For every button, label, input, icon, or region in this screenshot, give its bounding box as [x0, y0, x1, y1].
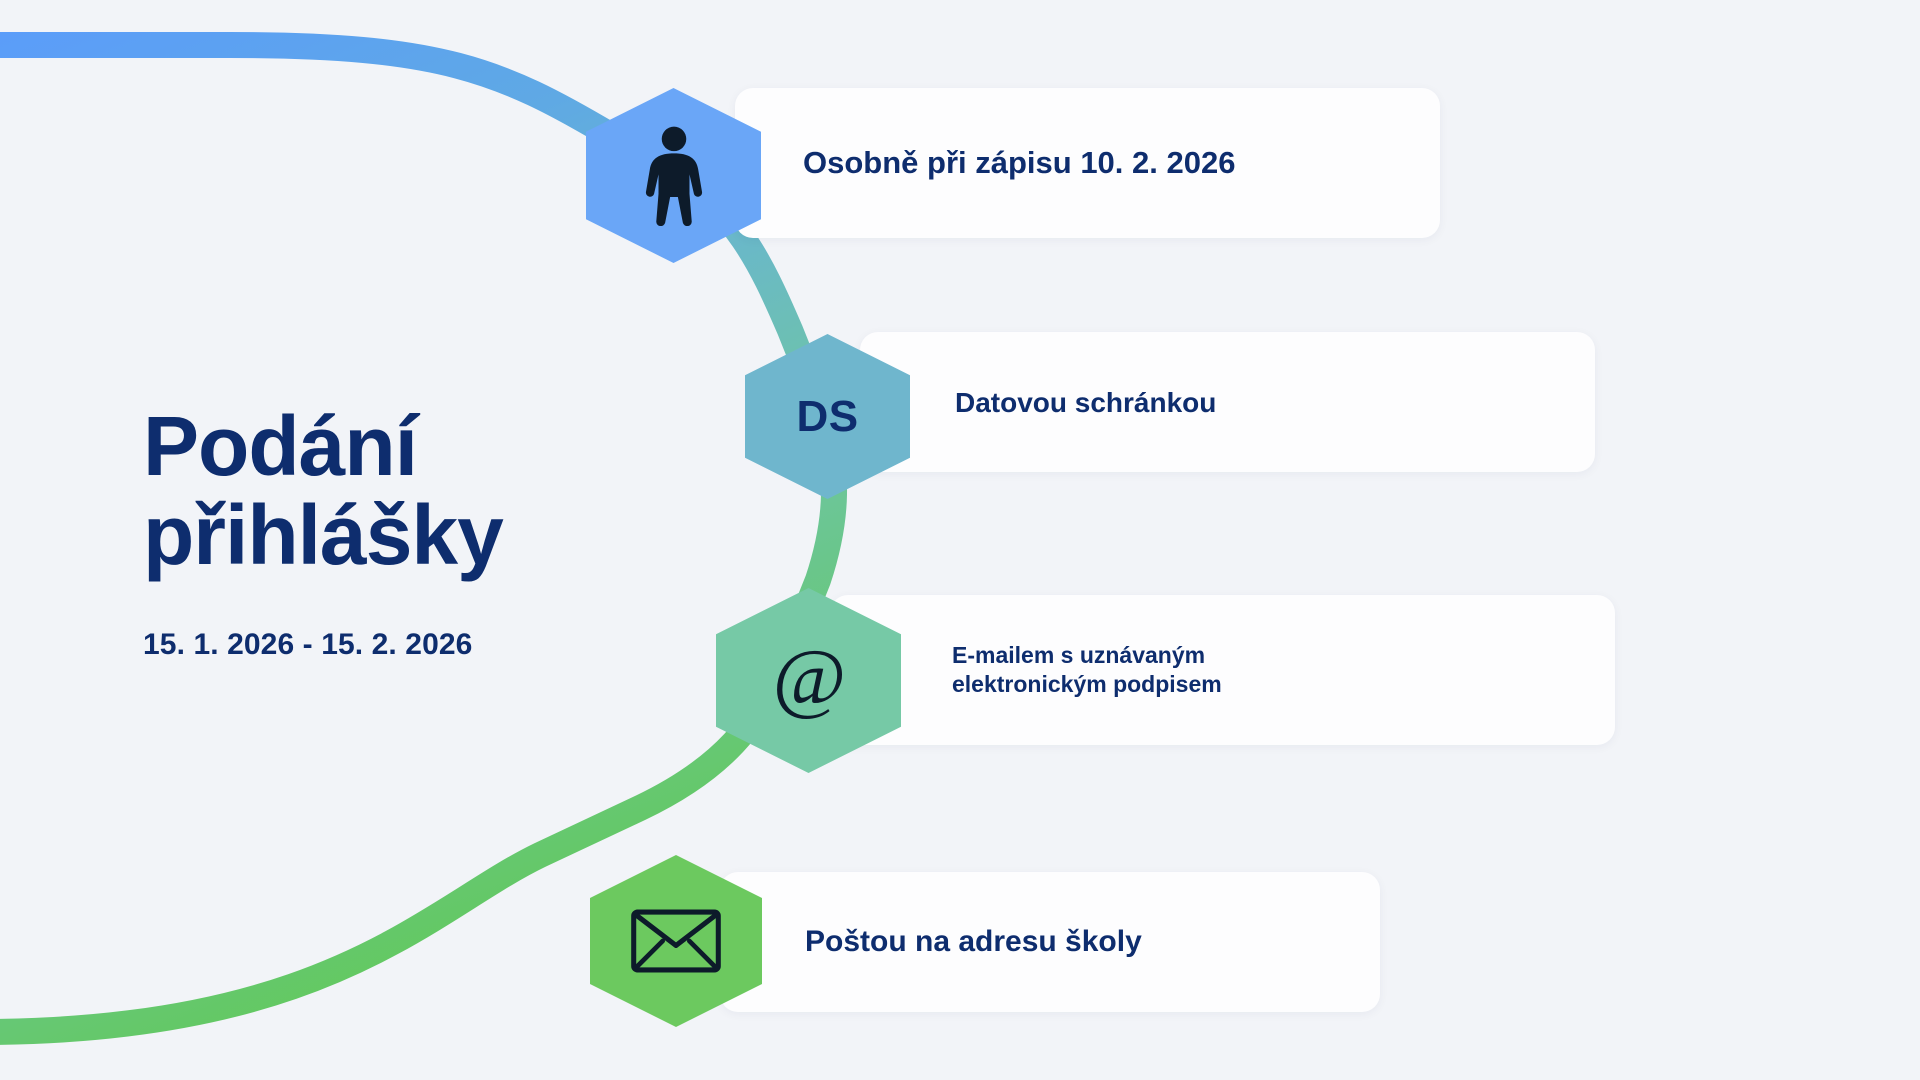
- ds-text-icon: DS: [796, 392, 858, 442]
- page-title: Podání přihlášky: [143, 402, 663, 580]
- infographic-canvas: Podání přihlášky 15. 1. 2026 - 15. 2. 20…: [0, 0, 1920, 1080]
- at-sign-icon: @: [763, 635, 855, 727]
- step-label-in-person: Osobně při zápisu 10. 2. 2026: [803, 144, 1235, 183]
- date-range-label: 15. 1. 2026 - 15. 2. 2026: [143, 628, 663, 662]
- step-card-email[interactable]: E-mailem s uznávaným elektronickým podpi…: [830, 595, 1615, 745]
- step-label-postal: Poštou na adresu školy: [805, 923, 1142, 961]
- heading-block: Podání přihlášky 15. 1. 2026 - 15. 2. 20…: [143, 402, 663, 662]
- step-label-data-box: Datovou schránkou: [955, 385, 1216, 420]
- step-label-email: E-mailem s uznávaným elektronickým podpi…: [952, 641, 1222, 699]
- step-card-in-person[interactable]: Osobně při zápisu 10. 2. 2026: [735, 88, 1440, 238]
- step-card-postal[interactable]: Poštou na adresu školy: [720, 872, 1380, 1012]
- envelope-icon: [630, 908, 722, 974]
- svg-text:@: @: [772, 635, 845, 722]
- person-icon: [641, 126, 707, 226]
- step-card-data-box[interactable]: Datovou schránkou: [860, 332, 1595, 472]
